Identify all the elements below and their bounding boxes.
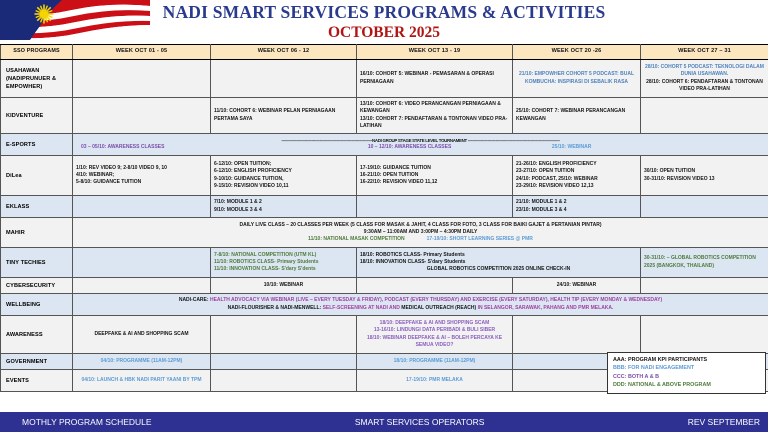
mahir-line-2: 9:30AM – 11:00AM AND 3:00PM – 4:30PM DAI… (77, 229, 764, 236)
cell-awareness-w3: 18/10: DEEPFAKE & AI AND SHOPPING SCAM 1… (357, 316, 513, 354)
table-row: DiLea 1/10: REV VIDEO 9; 2-8/10 VIDEO 9,… (1, 156, 768, 196)
cell-tiny-w2: 7-8/10: NATIONAL COMPETITION (UTM KL) 11… (211, 248, 357, 278)
row-label-awareness: AWARENESS (1, 316, 73, 354)
cell-dilea-w3: 17-19/10: GUIDANCE TUITION 16-21/10: OPE… (357, 156, 513, 196)
cell-mahir-span: DAILY LIVE CLASS – 20 CLASSES PER WEEK (… (73, 218, 768, 248)
table-row: USAHAWAN (NADIPRUNUER & EMPOWHER) 16/10:… (1, 60, 768, 98)
mahir-items: 11/10: NATIONAL MASAK COMPETITION 17-19/… (77, 236, 764, 243)
cell-events-w2 (211, 370, 357, 392)
cell-awareness-w3-line2: 13-16/10: LINDUNGI DATA PERIBADI & BULI … (360, 327, 509, 334)
cell-cyber-w4: 24/10: WEBINAR (513, 278, 641, 294)
row-label-tiny-techies: TINY TECHIES (1, 248, 73, 278)
footer-center: SMART SERVICES OPERATORS (152, 417, 688, 427)
cell-eklass-w4: 21/10: MODULE 1 & 2 23/10: MODULE 3 & 4 (513, 196, 641, 218)
schedule-page: NADI SMART SERVICES PROGRAMS & ACTIVITIE… (0, 0, 768, 432)
wellbeing-line1-text: HEALTH ADVOCACY VIA WEBINAR (LIVE – EVER… (209, 297, 663, 303)
page-header: NADI SMART SERVICES PROGRAMS & ACTIVITIE… (0, 0, 768, 44)
cell-tiny-w3-line2: 18/10: INNOVATION CLASS- S'dary Students (360, 259, 637, 266)
cell-cyber-w1 (73, 278, 211, 294)
row-label-mahir: MAHIR (1, 218, 73, 248)
mahir-item-2: 17-19/10: SHORT LEARNING SERIES @ PMR (427, 236, 533, 243)
page-subtitle: OCTOBER 2025 (0, 23, 768, 42)
cell-awareness-w2 (211, 316, 357, 354)
cell-usahawan-w1 (73, 60, 211, 98)
cell-eklass-w1 (73, 196, 211, 218)
title-block: NADI SMART SERVICES PROGRAMS & ACTIVITIE… (0, 1, 768, 42)
table-row: E-SPORTS -------------------------------… (1, 134, 768, 156)
cell-usahawan-w5: 28/10: COHORT 5 PODCAST: TEKNOLOGI DALAM… (641, 60, 768, 98)
cell-usahawan-w5-line2: 28/10: COHORT 6: PENDAFTARAN & TONTONAN … (644, 79, 765, 93)
table-row: AWARENESS DEEPFAKE & AI AND SHOPPING SCA… (1, 316, 768, 354)
row-label-eklass: EKLASS (1, 196, 73, 218)
esports-item-1: 03 – 05/10: AWARENESS CLASSES (77, 144, 368, 151)
cell-awareness-w3-line3: 18/10: WEBINAR DEEPFAKE & AI – BOLEH PER… (360, 335, 509, 349)
row-label-dilea: DiLea (1, 156, 73, 196)
schedule-table: SSO PROGRAMS WEEK OCT 01 - 05 WEEK OCT 0… (0, 44, 768, 392)
table-row: CYBERSECURITY 10/10: WEBINAR 24/10: WEBI… (1, 278, 768, 294)
row-label-events: EVENTS (1, 370, 73, 392)
row-label-wellbeing: WELLBEING (1, 294, 73, 316)
wellbeing-line-1: NADI-CARE: HEALTH ADVOCACY VIA WEBINAR (… (77, 297, 764, 304)
cell-tiny-w3-w4: 18/10: ROBOTICS CLASS- Primary Students … (357, 248, 641, 278)
table-row: KIDVENTURE 11/10: COHORT 6: WEBINAR PELA… (1, 98, 768, 134)
mahir-item-1: 11/10: NATIONAL MASAK COMPETITION (308, 236, 405, 243)
cell-kidventure-w3: 13/10: COHORT 6: VIDEO PERANCANGAN PERNI… (357, 98, 513, 134)
cell-cyber-w3 (357, 278, 513, 294)
table-row: TINY TECHIES 7-8/10: NATIONAL COMPETITIO… (1, 248, 768, 278)
row-label-esports: E-SPORTS (1, 134, 73, 156)
wellbeing-line2-text2: IN SELANGOR, SARAWAK, PAHANG AND PMR MEL… (476, 305, 613, 311)
footer-right: REV SEPTEMBER (688, 417, 768, 427)
wellbeing-line2-text1: SELF-SCREENING AT NADI AND (321, 305, 401, 311)
wellbeing-line1-prefix: NADI-CARE: (179, 297, 209, 303)
mahir-line-1: DAILY LIVE CLASS – 20 CLASSES PER WEEK (… (77, 222, 764, 229)
cell-gov-w3: 18/10: PROGRAMME (11AM-12PM) (357, 354, 513, 370)
cell-gov-w2 (211, 354, 357, 370)
table-row: WELLBEING NADI-CARE: HEALTH ADVOCACY VIA… (1, 294, 768, 316)
table-row: EKLASS 7/10: MODULE 1 & 2 9/10: MODULE 3… (1, 196, 768, 218)
cell-kidventure-w2: 11/10: COHORT 6: WEBINAR PELAN PERNIAGAA… (211, 98, 357, 134)
column-header-week1: WEEK OCT 01 - 05 (73, 45, 211, 60)
cell-awareness-w4 (513, 316, 641, 354)
cell-tiny-w5: 30-31/10: – GLOBAL ROBOTICS COMPETITION … (641, 248, 768, 278)
wellbeing-line2-prefix: NADI-FLOURISHER & NADI-MENWELL: (228, 305, 322, 311)
row-label-cybersecurity: CYBERSECURITY (1, 278, 73, 294)
row-label-kidventure: KIDVENTURE (1, 98, 73, 134)
cell-wellbeing-span: NADI-CARE: HEALTH ADVOCACY VIA WEBINAR (… (73, 294, 768, 316)
column-header-sso: SSO PROGRAMS (1, 45, 73, 60)
cell-usahawan-w3: 16/10: COHORT 5: WEBINAR - PEMASARAN & O… (357, 60, 513, 98)
column-header-week5: WEEK OCT 27 – 31 (641, 45, 768, 60)
cell-usahawan-w4: 21/10: EMPOWHER COHORT 5 PODCAST: BUAL K… (513, 60, 641, 98)
cell-awareness-w3-line1: 18/10: DEEPFAKE & AI AND SHOPPING SCAM (360, 320, 509, 327)
cell-dilea-w5: 30/10: OPEN TUITION 30-31/10: REVISION V… (641, 156, 768, 196)
cell-eklass-w5 (641, 196, 768, 218)
column-header-week2: WEEK OCT 06 - 12 (211, 45, 357, 60)
cell-eklass-w2: 7/10: MODULE 1 & 2 9/10: MODULE 3 & 4 (211, 196, 357, 218)
cell-awareness-w5 (641, 316, 768, 354)
legend-item-aaa: AAA: PROGRAM KPI PARTICIPANTS (613, 356, 761, 364)
cell-esports-span: ----------------------------------------… (73, 134, 768, 156)
wellbeing-line2-bold: MEDICAL OUTREACH (REACH) (401, 305, 476, 311)
legend-item-bbb: BBB: FOR NADI ENGAGEMENT (613, 364, 761, 372)
cell-cyber-w5 (641, 278, 768, 294)
legend-item-ddd: DDD: NATIONAL & ABOVE PROGRAM (613, 381, 761, 389)
cell-kidventure-w4: 25/10: COHORT 7: WEBINAR PERANCANGAN KEW… (513, 98, 641, 134)
cell-kidventure-w5 (641, 98, 768, 134)
cell-dilea-w4: 21-26/10: ENGLISH PROFICIENCY 23-27/10: … (513, 156, 641, 196)
wellbeing-line-2: NADI-FLOURISHER & NADI-MENWELL: SELF-SCR… (77, 305, 764, 312)
cell-events-w1: 04/10: LAUNCH & HBK NADI PARIT YAANI BY … (73, 370, 211, 392)
cell-events-w3: 17-19/10: PMR MELAKA (357, 370, 513, 392)
page-footer: MOTHLY PROGRAM SCHEDULE SMART SERVICES O… (0, 412, 768, 432)
esports-items: 03 – 05/10: AWARENESS CLASSES 10 – 12/10… (77, 144, 764, 151)
column-header-week4: WEEK OCT 20 -26 (513, 45, 641, 60)
cell-kidventure-w1 (73, 98, 211, 134)
legend-item-ccc: CCC: BOTH A & B (613, 373, 761, 381)
row-label-usahawan: USAHAWAN (NADIPRUNUER & EMPOWHER) (1, 60, 73, 98)
cell-usahawan-w2 (211, 60, 357, 98)
cell-gov-w1: 04/10: PROGRAMME (11AM-12PM) (73, 354, 211, 370)
cell-kidventure-w3-line1: 13/10: COHORT 6: VIDEO PERANCANGAN PERNI… (360, 101, 509, 115)
table-header-row: SSO PROGRAMS WEEK OCT 01 - 05 WEEK OCT 0… (1, 45, 768, 60)
cell-dilea-w1: 1/10: REV VIDEO 9; 2-8/10 VIDEO 9, 10 4/… (73, 156, 211, 196)
table-row: MAHIR DAILY LIVE CLASS – 20 CLASSES PER … (1, 218, 768, 248)
legend-box: AAA: PROGRAM KPI PARTICIPANTS BBB: FOR N… (607, 352, 766, 394)
cell-awareness-w1: DEEPFAKE & AI AND SHOPPING SCAM (73, 316, 211, 354)
cell-kidventure-w3-line2: 13/10: COHORT 7: PENDAFTARAN & TONTONAN … (360, 116, 509, 130)
cell-tiny-global-checkin: GLOBAL ROBOTICS COMPETITION 2025 ONLINE … (360, 266, 637, 273)
cell-tiny-w1 (73, 248, 211, 278)
cell-dilea-w2: 6-12/10: OPEN TUITION; 6-12/10: ENGLISH … (211, 156, 357, 196)
cell-tiny-w3-line1: 18/10: ROBOTICS CLASS- Primary Students (360, 252, 637, 259)
cell-usahawan-w5-line1: 28/10: COHORT 5 PODCAST: TEKNOLOGI DALAM… (644, 64, 765, 78)
row-label-government: GOVERNMENT (1, 354, 73, 370)
page-title: NADI SMART SERVICES PROGRAMS & ACTIVITIE… (0, 1, 768, 23)
footer-left: MOTHLY PROGRAM SCHEDULE (0, 417, 152, 427)
cell-eklass-w3 (357, 196, 513, 218)
column-header-week3: WEEK OCT 13 - 19 (357, 45, 513, 60)
cell-cyber-w2: 10/10: WEBINAR (211, 278, 357, 294)
